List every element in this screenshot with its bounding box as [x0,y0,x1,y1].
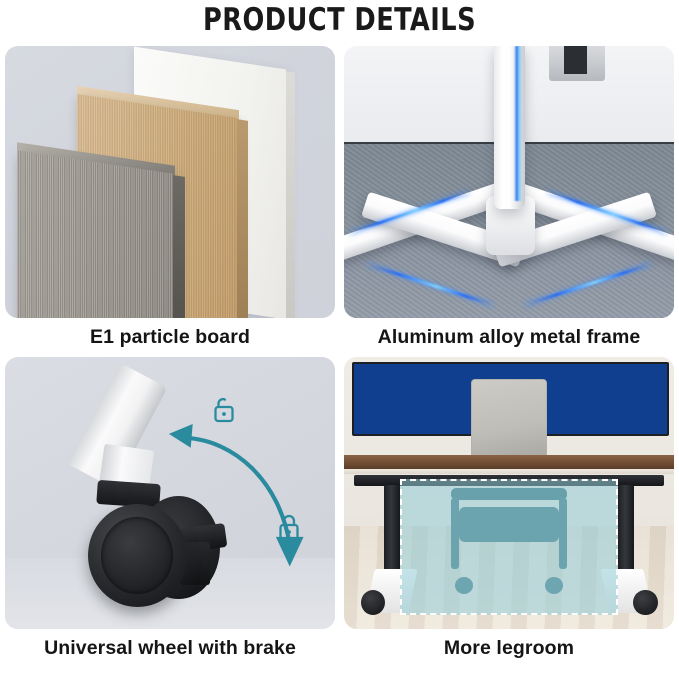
wood-board-edge [237,119,248,318]
metal-frame-photo [344,46,674,318]
panel-grid: E1 particle board Aluminum [5,46,674,668]
panel-metal-frame: Aluminum alloy metal frame [344,46,674,357]
panel-universal-wheel: Universal wheel with brake [5,357,335,668]
curved-double-arrow-icon [163,406,321,575]
caption-more-legroom: More legroom [344,629,674,668]
laptop [471,379,547,461]
gray-board-edge [173,175,185,318]
page-title: PRODUCT DETAILS [27,2,652,38]
caption-particle-board: E1 particle board [5,318,335,357]
panel-particle-board: E1 particle board [5,46,335,357]
product-details-page: PRODUCT DETAILS E1 particle board [0,0,679,673]
monitor-stand-base [549,46,605,81]
universal-wheel-photo [5,357,335,629]
white-board-edge [286,71,295,318]
panel-more-legroom: More legroom [344,357,674,668]
legroom-highlight-area [400,479,618,615]
more-legroom-photo [344,357,674,629]
gray-board [17,150,173,318]
desk-top [344,455,674,469]
center-post-blue-glow [514,46,522,201]
desk-caster-right [633,590,658,616]
particle-board-photo [5,46,335,318]
desk-underside [344,469,674,474]
caption-metal-frame: Aluminum alloy metal frame [344,318,674,357]
caption-universal-wheel: Universal wheel with brake [5,629,335,668]
